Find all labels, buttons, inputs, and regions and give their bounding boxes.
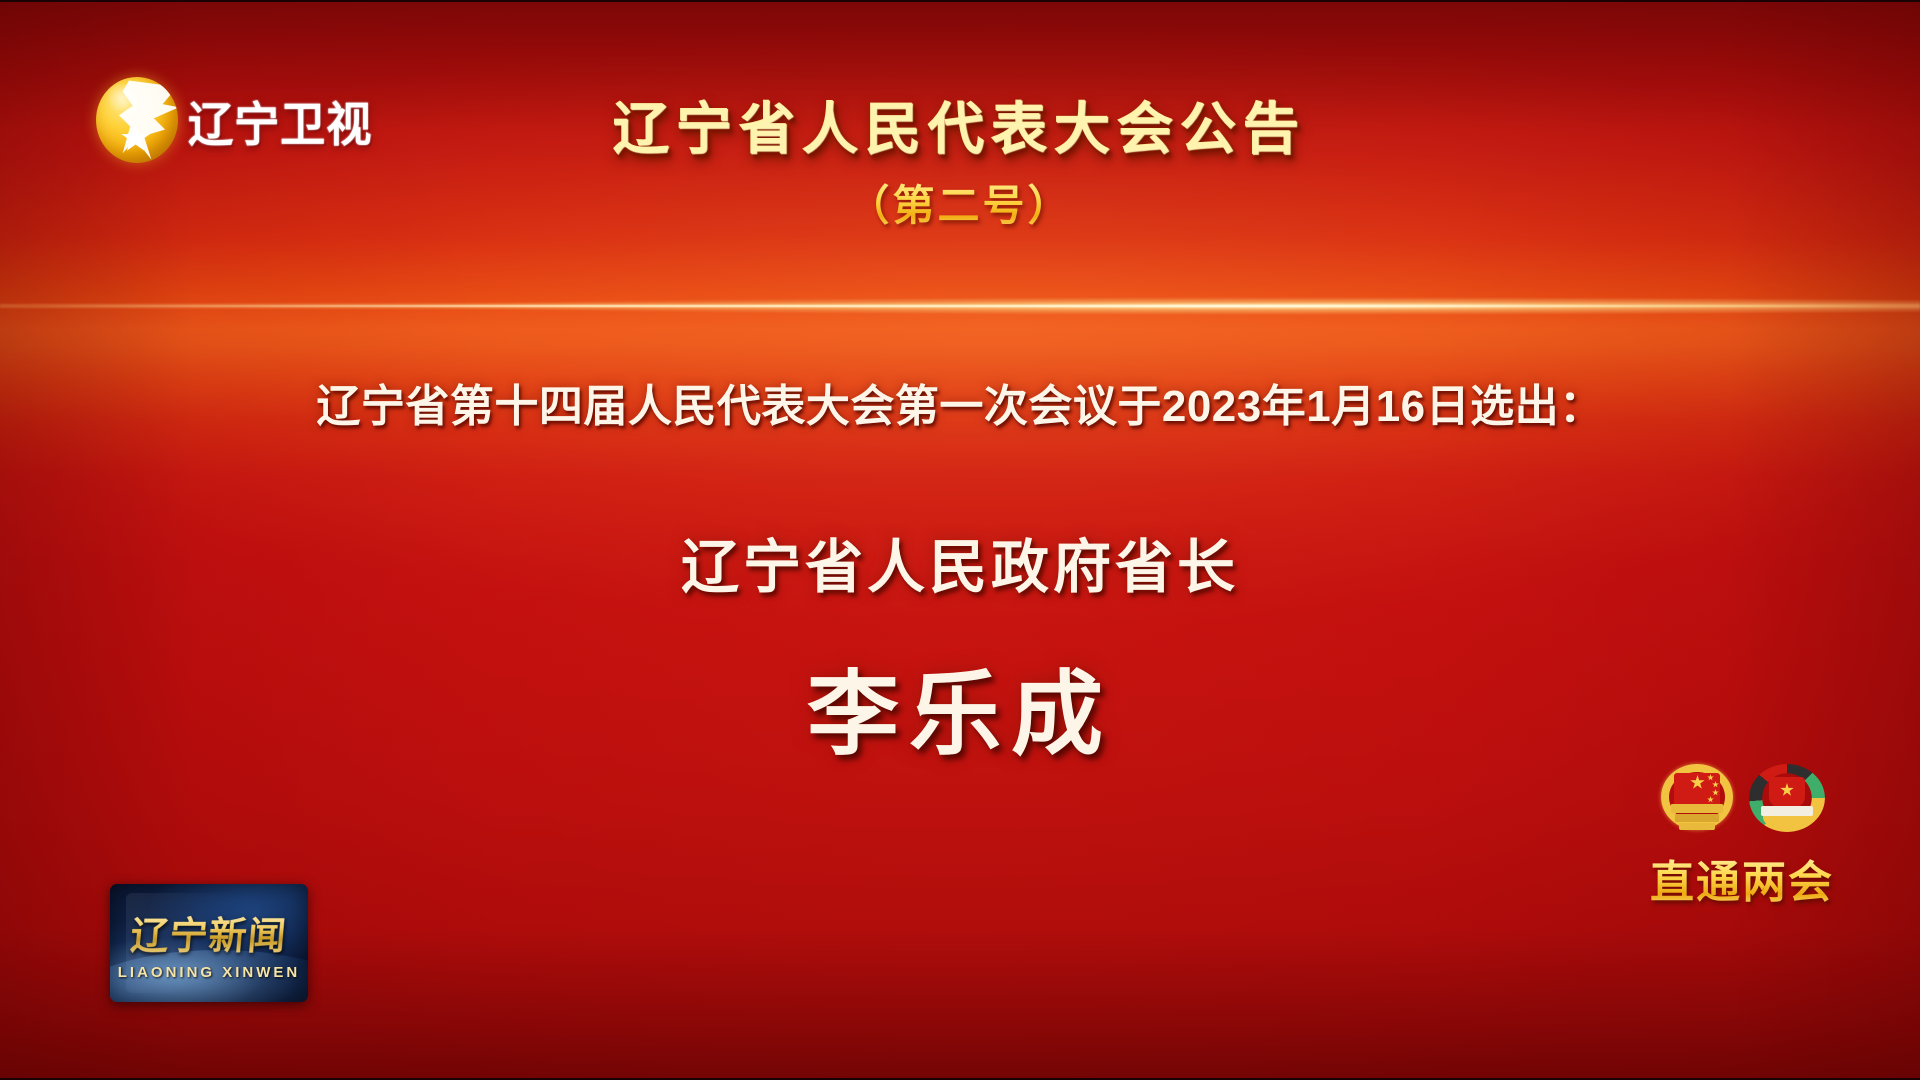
program-name-en: LIAONING XINWEN bbox=[118, 964, 301, 981]
program-name-cn: 辽宁新闻 bbox=[129, 905, 290, 960]
channel-name-label: 辽宁卫视 bbox=[188, 86, 372, 155]
cppcc-emblem-icon bbox=[1745, 760, 1829, 840]
gold-globe-star-icon bbox=[96, 77, 178, 163]
session-badge-label: 直通两会 bbox=[1642, 846, 1842, 910]
session-badge: 直通两会 bbox=[1642, 758, 1842, 910]
program-logo: 辽宁新闻 LIAONING XINWEN bbox=[110, 884, 308, 1002]
national-emblem-npc-icon bbox=[1655, 760, 1739, 840]
broadcast-screen: 辽宁卫视 辽宁省人民代表大会公告 （第二号） 辽宁省第十四届人民代表大会第一次会… bbox=[0, 0, 1920, 1080]
letterbox-top bbox=[0, 0, 1920, 2]
emblem-row bbox=[1642, 758, 1842, 840]
channel-logo: 辽宁卫视 bbox=[96, 74, 380, 166]
globe-highlight bbox=[104, 84, 138, 112]
